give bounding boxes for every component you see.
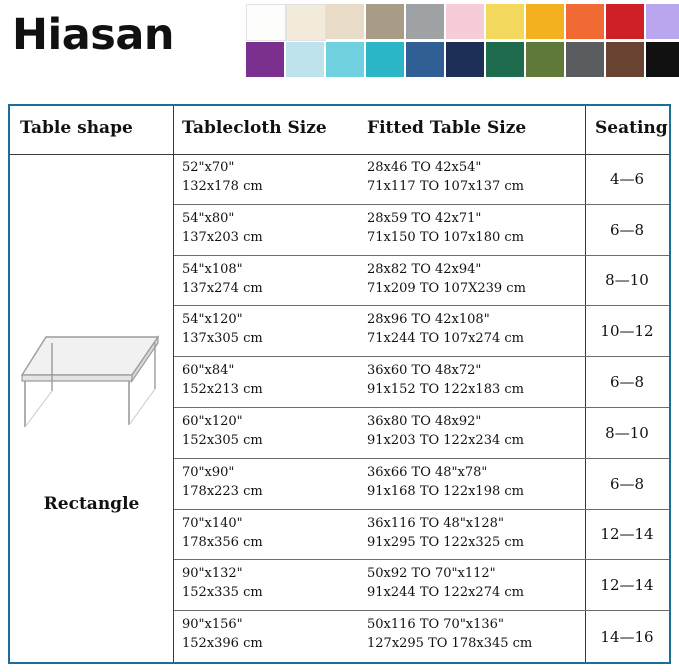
- cell-fitted-table-size: 50x116 TO 70"x136"127x295 TO 178x345 cm: [367, 615, 582, 653]
- table-body: 52"x70"132x178 cm28x46 TO 42x54"71x117 T…: [174, 154, 669, 662]
- fitted-size-inches: 36x116 TO 48"x128": [367, 514, 582, 533]
- cell-seating: 10—12: [585, 306, 669, 356]
- fitted-size-inches: 36x80 TO 48x92": [367, 412, 582, 431]
- cell-fitted-table-size: 28x59 TO 42x71"71x150 TO 107x180 cm: [367, 209, 582, 247]
- tablecloth-size-inches: 60"x120": [182, 412, 362, 431]
- cell-seating: 12—14: [585, 510, 669, 560]
- tablecloth-size-cm: 152x335 cm: [182, 583, 362, 602]
- tablecloth-size-inches: 54"x80": [182, 209, 362, 228]
- table-row: 60"x84"152x213 cm36x60 TO 48x72"91x152 T…: [174, 357, 669, 408]
- fitted-size-inches: 50x116 TO 70"x136": [367, 615, 582, 634]
- color-swatch-pale-blue[interactable]: [286, 42, 324, 77]
- table-row: 52"x70"132x178 cm28x46 TO 42x54"71x117 T…: [174, 154, 669, 205]
- cell-fitted-table-size: 28x46 TO 42x54"71x117 TO 107x137 cm: [367, 158, 582, 196]
- tablecloth-size-cm: 137x305 cm: [182, 329, 362, 348]
- fitted-size-inches: 28x96 TO 42x108": [367, 310, 582, 329]
- tablecloth-size-cm: 178x223 cm: [182, 482, 362, 501]
- fitted-size-cm: 71x244 TO 107x274 cm: [367, 329, 582, 348]
- cell-seating: 6—8: [585, 205, 669, 255]
- color-swatch-yellow[interactable]: [486, 4, 524, 39]
- tablecloth-size-inches: 90"x132": [182, 564, 362, 583]
- tablecloth-size-inches: 60"x84": [182, 361, 362, 380]
- cell-tablecloth-size: 52"x70"132x178 cm: [182, 158, 362, 196]
- cell-tablecloth-size: 90"x132"152x335 cm: [182, 564, 362, 602]
- tablecloth-size-inches: 70"x140": [182, 514, 362, 533]
- color-swatch-beige[interactable]: [326, 4, 364, 39]
- fitted-size-cm: 91x152 TO 122x183 cm: [367, 380, 582, 399]
- tablecloth-size-cm: 137x274 cm: [182, 279, 362, 298]
- color-swatch-sky-blue[interactable]: [326, 42, 364, 77]
- cell-tablecloth-size: 60"x84"152x213 cm: [182, 361, 362, 399]
- rectangle-table-icon: [16, 329, 166, 439]
- color-swatch-navy[interactable]: [446, 42, 484, 77]
- fitted-size-cm: 127x295 TO 178x345 cm: [367, 634, 582, 653]
- cell-fitted-table-size: 36x116 TO 48"x128"91x295 TO 122x325 cm: [367, 514, 582, 552]
- cell-tablecloth-size: 54"x108"137x274 cm: [182, 260, 362, 298]
- fitted-size-inches: 28x82 TO 42x94": [367, 260, 582, 279]
- cell-tablecloth-size: 60"x120"152x305 cm: [182, 412, 362, 450]
- fitted-size-cm: 71x150 TO 107x180 cm: [367, 228, 582, 247]
- table-row: 70"x90"178x223 cm36x66 TO 48"x78"91x168 …: [174, 459, 669, 510]
- tablecloth-size-inches: 54"x120": [182, 310, 362, 329]
- color-swatch-black[interactable]: [646, 42, 679, 77]
- cell-seating: 14—16: [585, 611, 669, 662]
- cell-tablecloth-size: 90"x156"152x396 cm: [182, 615, 362, 653]
- color-swatch-purple[interactable]: [246, 42, 284, 77]
- cell-fitted-table-size: 36x80 TO 48x92"91x203 TO 122x234 cm: [367, 412, 582, 450]
- tablecloth-size-inches: 52"x70": [182, 158, 362, 177]
- fitted-size-cm: 71x209 TO 107X239 cm: [367, 279, 582, 298]
- fitted-size-cm: 71x117 TO 107x137 cm: [367, 177, 582, 196]
- color-swatch-orange[interactable]: [566, 4, 604, 39]
- cell-fitted-table-size: 36x66 TO 48"x78"91x168 TO 122x198 cm: [367, 463, 582, 501]
- tablecloth-size-cm: 152x396 cm: [182, 634, 362, 653]
- color-swatch-dark-gray[interactable]: [566, 42, 604, 77]
- color-swatch-ivory[interactable]: [286, 4, 326, 41]
- tablecloth-size-cm: 178x356 cm: [182, 533, 362, 552]
- table-row: 90"x156"152x396 cm50x116 TO 70"x136"127x…: [174, 611, 669, 662]
- cell-seating: 4—6: [585, 154, 669, 204]
- fitted-size-cm: 91x168 TO 122x198 cm: [367, 482, 582, 501]
- cell-fitted-table-size: 28x82 TO 42x94"71x209 TO 107X239 cm: [367, 260, 582, 298]
- color-swatch-grid: [246, 4, 679, 78]
- table-row: 54"x120"137x305 cm28x96 TO 42x108"71x244…: [174, 306, 669, 357]
- color-swatch-white[interactable]: [246, 4, 286, 41]
- fitted-size-cm: 91x295 TO 122x325 cm: [367, 533, 582, 552]
- tablecloth-size-cm: 137x203 cm: [182, 228, 362, 247]
- color-swatch-gray[interactable]: [406, 4, 444, 39]
- table-row: 90"x132"152x335 cm50x92 TO 70"x112"91x24…: [174, 560, 669, 611]
- table-row: 60"x120"152x305 cm36x80 TO 48x92"91x203 …: [174, 408, 669, 459]
- cell-tablecloth-size: 54"x120"137x305 cm: [182, 310, 362, 348]
- fitted-size-inches: 28x59 TO 42x71": [367, 209, 582, 228]
- color-swatch-olive-green[interactable]: [526, 42, 564, 77]
- cell-fitted-table-size: 50x92 TO 70"x112"91x244 TO 122x274 cm: [367, 564, 582, 602]
- cell-tablecloth-size: 54"x80"137x203 cm: [182, 209, 362, 247]
- column-header-fitted-table-size: Fitted Table Size: [367, 118, 526, 138]
- cell-tablecloth-size: 70"x90"178x223 cm: [182, 463, 362, 501]
- column-header-tablecloth-size: Tablecloth Size: [182, 118, 327, 138]
- tablecloth-size-inches: 54"x108": [182, 260, 362, 279]
- cell-tablecloth-size: 70"x140"178x356 cm: [182, 514, 362, 552]
- tablecloth-size-cm: 132x178 cm: [182, 177, 362, 196]
- tablecloth-size-cm: 152x213 cm: [182, 380, 362, 399]
- color-swatch-red[interactable]: [606, 4, 644, 39]
- color-swatch-taupe[interactable]: [366, 4, 404, 39]
- tablecloth-size-inches: 70"x90": [182, 463, 362, 482]
- fitted-size-inches: 28x46 TO 42x54": [367, 158, 582, 177]
- brand-logo: Hiasan: [12, 10, 174, 60]
- cell-seating: 8—10: [585, 256, 669, 306]
- cell-fitted-table-size: 36x60 TO 48x72"91x152 TO 122x183 cm: [367, 361, 582, 399]
- table-row: 70"x140"178x356 cm36x116 TO 48"x128"91x2…: [174, 510, 669, 561]
- shape-column-cell: Rectangle: [10, 154, 173, 662]
- fitted-size-cm: 91x244 TO 122x274 cm: [367, 583, 582, 602]
- table-row: 54"x108"137x274 cm28x82 TO 42x94"71x209 …: [174, 256, 669, 307]
- tablecloth-size-cm: 152x305 cm: [182, 431, 362, 450]
- color-swatch-teal[interactable]: [366, 42, 404, 77]
- fitted-size-inches: 36x60 TO 48x72": [367, 361, 582, 380]
- color-swatch-light-pink[interactable]: [446, 4, 484, 39]
- cell-seating: 6—8: [585, 357, 669, 407]
- column-header-seating: Seating: [595, 118, 668, 138]
- shape-label: Rectangle: [10, 494, 173, 514]
- color-swatch-forest-green[interactable]: [486, 42, 524, 77]
- size-chart-table: Table shape Tablecloth Size Fitted Table…: [8, 104, 671, 664]
- table-header-row: Table shape Tablecloth Size Fitted Table…: [10, 106, 669, 155]
- page-header: Hiasan: [0, 0, 679, 92]
- color-swatch-steel-blue[interactable]: [406, 42, 444, 77]
- fitted-size-cm: 91x203 TO 122x234 cm: [367, 431, 582, 450]
- cell-seating: 6—8: [585, 459, 669, 509]
- fitted-size-inches: 50x92 TO 70"x112": [367, 564, 582, 583]
- color-swatch-brown[interactable]: [606, 42, 644, 77]
- cell-fitted-table-size: 28x96 TO 42x108"71x244 TO 107x274 cm: [367, 310, 582, 348]
- color-swatch-gold[interactable]: [526, 4, 564, 39]
- column-header-table-shape: Table shape: [20, 118, 133, 138]
- cell-seating: 12—14: [585, 560, 669, 610]
- cell-seating: 8—10: [585, 408, 669, 458]
- table-row: 54"x80"137x203 cm28x59 TO 42x71"71x150 T…: [174, 205, 669, 256]
- color-swatch-lavender[interactable]: [646, 4, 679, 39]
- tablecloth-size-inches: 90"x156": [182, 615, 362, 634]
- fitted-size-inches: 36x66 TO 48"x78": [367, 463, 582, 482]
